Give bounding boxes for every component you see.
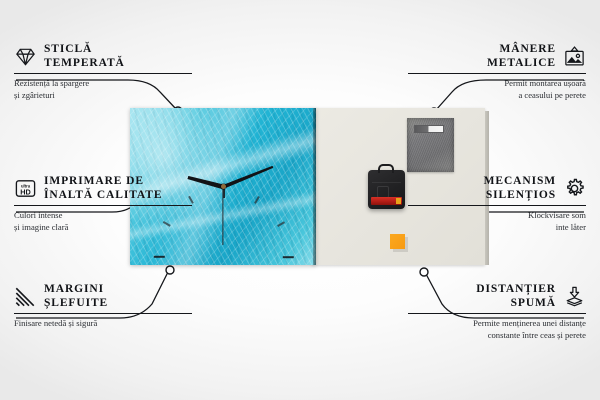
mechanism-seam (372, 182, 401, 183)
infographic-stage: STICLĂ TEMPERATĂ Rezistență la spargere … (0, 0, 600, 400)
metal-hanger-plate (407, 118, 454, 172)
feature-divider (14, 73, 192, 74)
feature-description: Culori intense și imagine clară (14, 210, 192, 234)
feature-foam-spacer: DISTANȚIER SPUMĂ Permite menținerea unei… (408, 282, 586, 342)
feature-desc-line2: și zgârieturi (14, 90, 55, 100)
feature-divider (408, 313, 586, 314)
feature-metal-handles: MÂNERE METALICE Permit montarea ușoară a… (408, 42, 586, 102)
clock-tick (154, 256, 224, 258)
ultra-hd-icon: ultra HD (14, 177, 37, 200)
clock-center-cap (221, 184, 226, 189)
clock-tick (224, 256, 294, 258)
feature-title-line1: STICLĂ (44, 43, 92, 55)
feature-title-line2: ȘLEFUITE (44, 297, 108, 309)
hanger-slot (414, 125, 444, 133)
diagonal-stripes-icon (14, 285, 37, 308)
feature-desc-line1: Klockvisare som (528, 210, 586, 220)
feature-desc-line2: constante între ceas și perete (488, 330, 586, 340)
clock-edge-shadow (313, 108, 316, 265)
feature-desc-line1: Permit montarea ușoară (504, 78, 586, 88)
feature-title-line2: SPUMĂ (511, 297, 556, 309)
feature-desc-line1: Culori intense (14, 210, 62, 220)
feature-description: Finisare netedă și sigură (14, 318, 192, 330)
foam-spacer-pad (390, 234, 405, 249)
feature-title: MECANISM SILENȚIOS (484, 174, 556, 202)
feature-title-line1: DISTANȚIER (476, 283, 556, 295)
feature-silent-mechanism: MECANISM SILENȚIOS Klockvisare som inte … (408, 174, 586, 234)
feature-desc-line2: a ceasului pe perete (518, 90, 586, 100)
feature-desc-line2: inte låter (556, 222, 586, 232)
feature-header: STICLĂ TEMPERATĂ (14, 42, 192, 70)
feature-description: Permit montarea ușoară a ceasului pe per… (408, 78, 586, 102)
feature-header: ultra HD IMPRIMARE DE ÎNALTĂ CALITATE (14, 174, 192, 202)
feature-header: DISTANȚIER SPUMĂ (408, 282, 586, 310)
feature-title: DISTANȚIER SPUMĂ (476, 282, 556, 310)
feature-title: IMPRIMARE DE ÎNALTĂ CALITATE (44, 174, 162, 202)
feature-title-line2: TEMPERATĂ (44, 57, 125, 69)
mechanism-hook (378, 164, 394, 173)
feature-divider (14, 313, 192, 314)
feature-title: MÂNERE METALICE (487, 42, 556, 70)
feature-divider (408, 73, 586, 74)
feature-divider (14, 205, 192, 206)
diamond-icon (14, 45, 37, 68)
feature-description: Permite menținerea unei distanțe constan… (408, 318, 586, 342)
feature-title-line1: MECANISM (484, 175, 556, 187)
feature-title-line2: SILENȚIOS (486, 189, 556, 201)
feature-title-line2: METALICE (487, 57, 556, 69)
battery (371, 197, 402, 205)
feature-header: MECANISM SILENȚIOS (408, 174, 586, 202)
feature-description: Klockvisare som inte låter (408, 210, 586, 234)
feature-description: Rezistență la spargere și zgârieturi (14, 78, 192, 102)
feature-desc-line2: și imagine clară (14, 222, 68, 232)
hanging-frame-icon (563, 45, 586, 68)
feature-desc-line1: Permite menținerea unei distanțe (473, 318, 586, 328)
gear-icon (563, 177, 586, 200)
feature-header: MARGINI ȘLEFUITE (14, 282, 192, 310)
feature-desc-line1: Rezistență la spargere (14, 78, 89, 88)
feature-title-line2: ÎNALTĂ CALITATE (44, 189, 162, 201)
feature-title-line1: MÂNERE (499, 43, 556, 55)
feature-title-line1: MARGINI (44, 283, 104, 295)
arrow-onto-layers-icon (563, 285, 586, 308)
feature-high-quality-print: ultra HD IMPRIMARE DE ÎNALTĂ CALITATE Cu… (14, 174, 192, 234)
feature-tempered-glass: STICLĂ TEMPERATĂ Rezistență la spargere … (14, 42, 192, 102)
svg-text:HD: HD (20, 187, 31, 196)
feature-divider (408, 205, 586, 206)
feature-title: STICLĂ TEMPERATĂ (44, 42, 125, 70)
feature-desc-line1: Finisare netedă și sigură (14, 318, 97, 328)
clock-mechanism (368, 170, 405, 209)
feature-title: MARGINI ȘLEFUITE (44, 282, 108, 310)
feature-title-line1: IMPRIMARE DE (44, 175, 144, 187)
feature-polished-edges: MARGINI ȘLEFUITE Finisare netedă și sigu… (14, 282, 192, 330)
feature-header: MÂNERE METALICE (408, 42, 586, 70)
